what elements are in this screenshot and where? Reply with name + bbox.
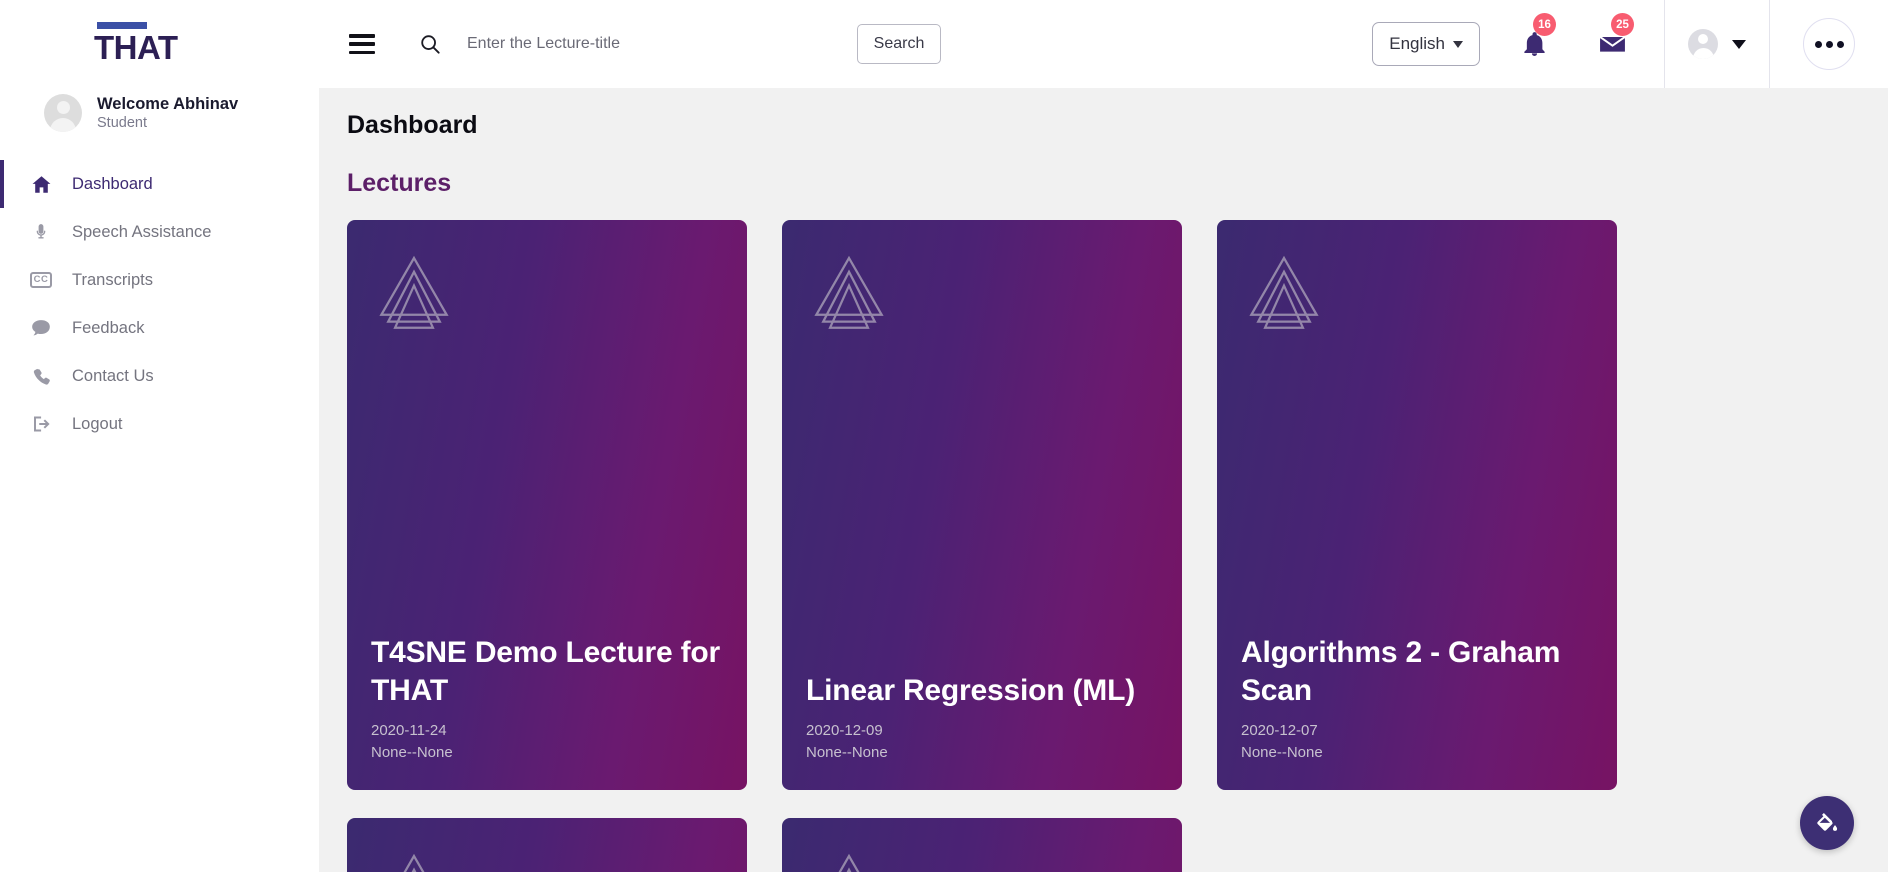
language-selector[interactable]: English [1372, 22, 1480, 66]
cc-label: CC [30, 272, 53, 288]
sidebar-item-label: Logout [72, 415, 122, 434]
section-title-lectures: Lectures [347, 168, 1888, 198]
top-bar: Search English 16 25 [319, 0, 1888, 88]
logout-icon [26, 414, 56, 434]
search-icon[interactable] [417, 31, 443, 57]
lecture-date: 2020-12-09 [806, 720, 1162, 742]
more-options-cell [1770, 0, 1888, 88]
lecture-meta: None--None [806, 742, 1162, 764]
ellipsis-horizontal-icon[interactable] [1803, 18, 1855, 70]
lecture-date: 2020-12-07 [1241, 720, 1597, 742]
sidebar-item-feedback[interactable]: Feedback [0, 304, 319, 352]
messages-badge: 25 [1611, 13, 1634, 36]
nested-triangles-logo-icon [1241, 246, 1327, 332]
nested-triangles-logo-icon [371, 246, 457, 332]
sidebar: THAT Welcome Abhinav Student Dashboard [0, 0, 319, 872]
nested-triangles-logo-icon [371, 844, 457, 872]
sidebar-item-label: Dashboard [72, 175, 153, 194]
account-menu-button[interactable] [1665, 0, 1769, 88]
sidebar-item-label: Speech Assistance [72, 223, 211, 242]
hamburger-menu-icon[interactable] [349, 34, 375, 54]
logo-text: THAT [94, 31, 178, 65]
notifications-badge: 16 [1533, 13, 1556, 36]
sidebar-item-label: Contact Us [72, 367, 154, 386]
theme-color-fab-button[interactable] [1800, 796, 1854, 850]
notifications-button[interactable]: 16 [1508, 0, 1560, 88]
search-button[interactable]: Search [857, 24, 941, 64]
sidebar-item-label: Feedback [72, 319, 144, 338]
lecture-meta: None--None [371, 742, 727, 764]
page-title: Dashboard [347, 110, 1888, 140]
lecture-card[interactable]: Linear Regression (ML) 2020-12-09 None--… [782, 220, 1182, 790]
user-role: Student [97, 114, 238, 133]
sidebar-item-dashboard[interactable]: Dashboard [0, 160, 319, 208]
user-avatar-icon [44, 94, 82, 132]
main-region: Search English 16 25 [319, 0, 1888, 872]
language-label: English [1389, 34, 1445, 54]
lecture-title: T4SNE Demo Lecture for THAT [371, 634, 727, 710]
user-welcome-name: Welcome Abhinav [97, 94, 238, 114]
brand-logo[interactable]: THAT [0, 0, 319, 78]
microphone-icon [26, 222, 56, 242]
lecture-meta: None--None [1241, 742, 1597, 764]
chat-bubble-icon [26, 319, 56, 337]
sidebar-user-block[interactable]: Welcome Abhinav Student [0, 78, 319, 140]
sidebar-item-label: Transcripts [72, 271, 153, 290]
lecture-card-grid: T4SNE Demo Lecture for THAT 2020-11-24 N… [347, 220, 1888, 872]
nested-triangles-logo-icon [806, 246, 892, 332]
home-icon [26, 174, 56, 195]
sidebar-item-contact-us[interactable]: Contact Us [0, 352, 319, 400]
closed-caption-icon: CC [26, 272, 56, 288]
lecture-title: Algorithms 2 - Graham Scan [1241, 634, 1597, 710]
user-avatar-icon [1688, 29, 1718, 59]
sidebar-item-transcripts[interactable]: CC Transcripts [0, 256, 319, 304]
search-input[interactable] [467, 35, 847, 53]
lecture-date: 2020-11-24 [371, 720, 727, 742]
lecture-card[interactable] [347, 818, 747, 872]
lecture-title: Linear Regression (ML) [806, 672, 1162, 710]
chevron-down-icon [1453, 41, 1463, 48]
lecture-card[interactable]: T4SNE Demo Lecture for THAT 2020-11-24 N… [347, 220, 747, 790]
messages-button[interactable]: 25 [1586, 0, 1638, 88]
sidebar-item-speech-assistance[interactable]: Speech Assistance [0, 208, 319, 256]
lecture-card[interactable]: Algorithms 2 - Graham Scan 2020-12-07 No… [1217, 220, 1617, 790]
app-root: THAT Welcome Abhinav Student Dashboard [0, 0, 1888, 872]
paint-bucket-icon [1814, 810, 1840, 836]
sidebar-item-logout[interactable]: Logout [0, 400, 319, 448]
phone-icon [26, 367, 56, 386]
lecture-card[interactable] [782, 818, 1182, 872]
sidebar-nav: Dashboard Speech Assistance CC Transcrip… [0, 160, 319, 448]
nested-triangles-logo-icon [806, 844, 892, 872]
chevron-down-icon [1732, 40, 1746, 49]
content-area: Dashboard Lectures T4SNE Demo Lecture fo… [319, 88, 1888, 872]
logo-accent-bar [97, 22, 147, 29]
